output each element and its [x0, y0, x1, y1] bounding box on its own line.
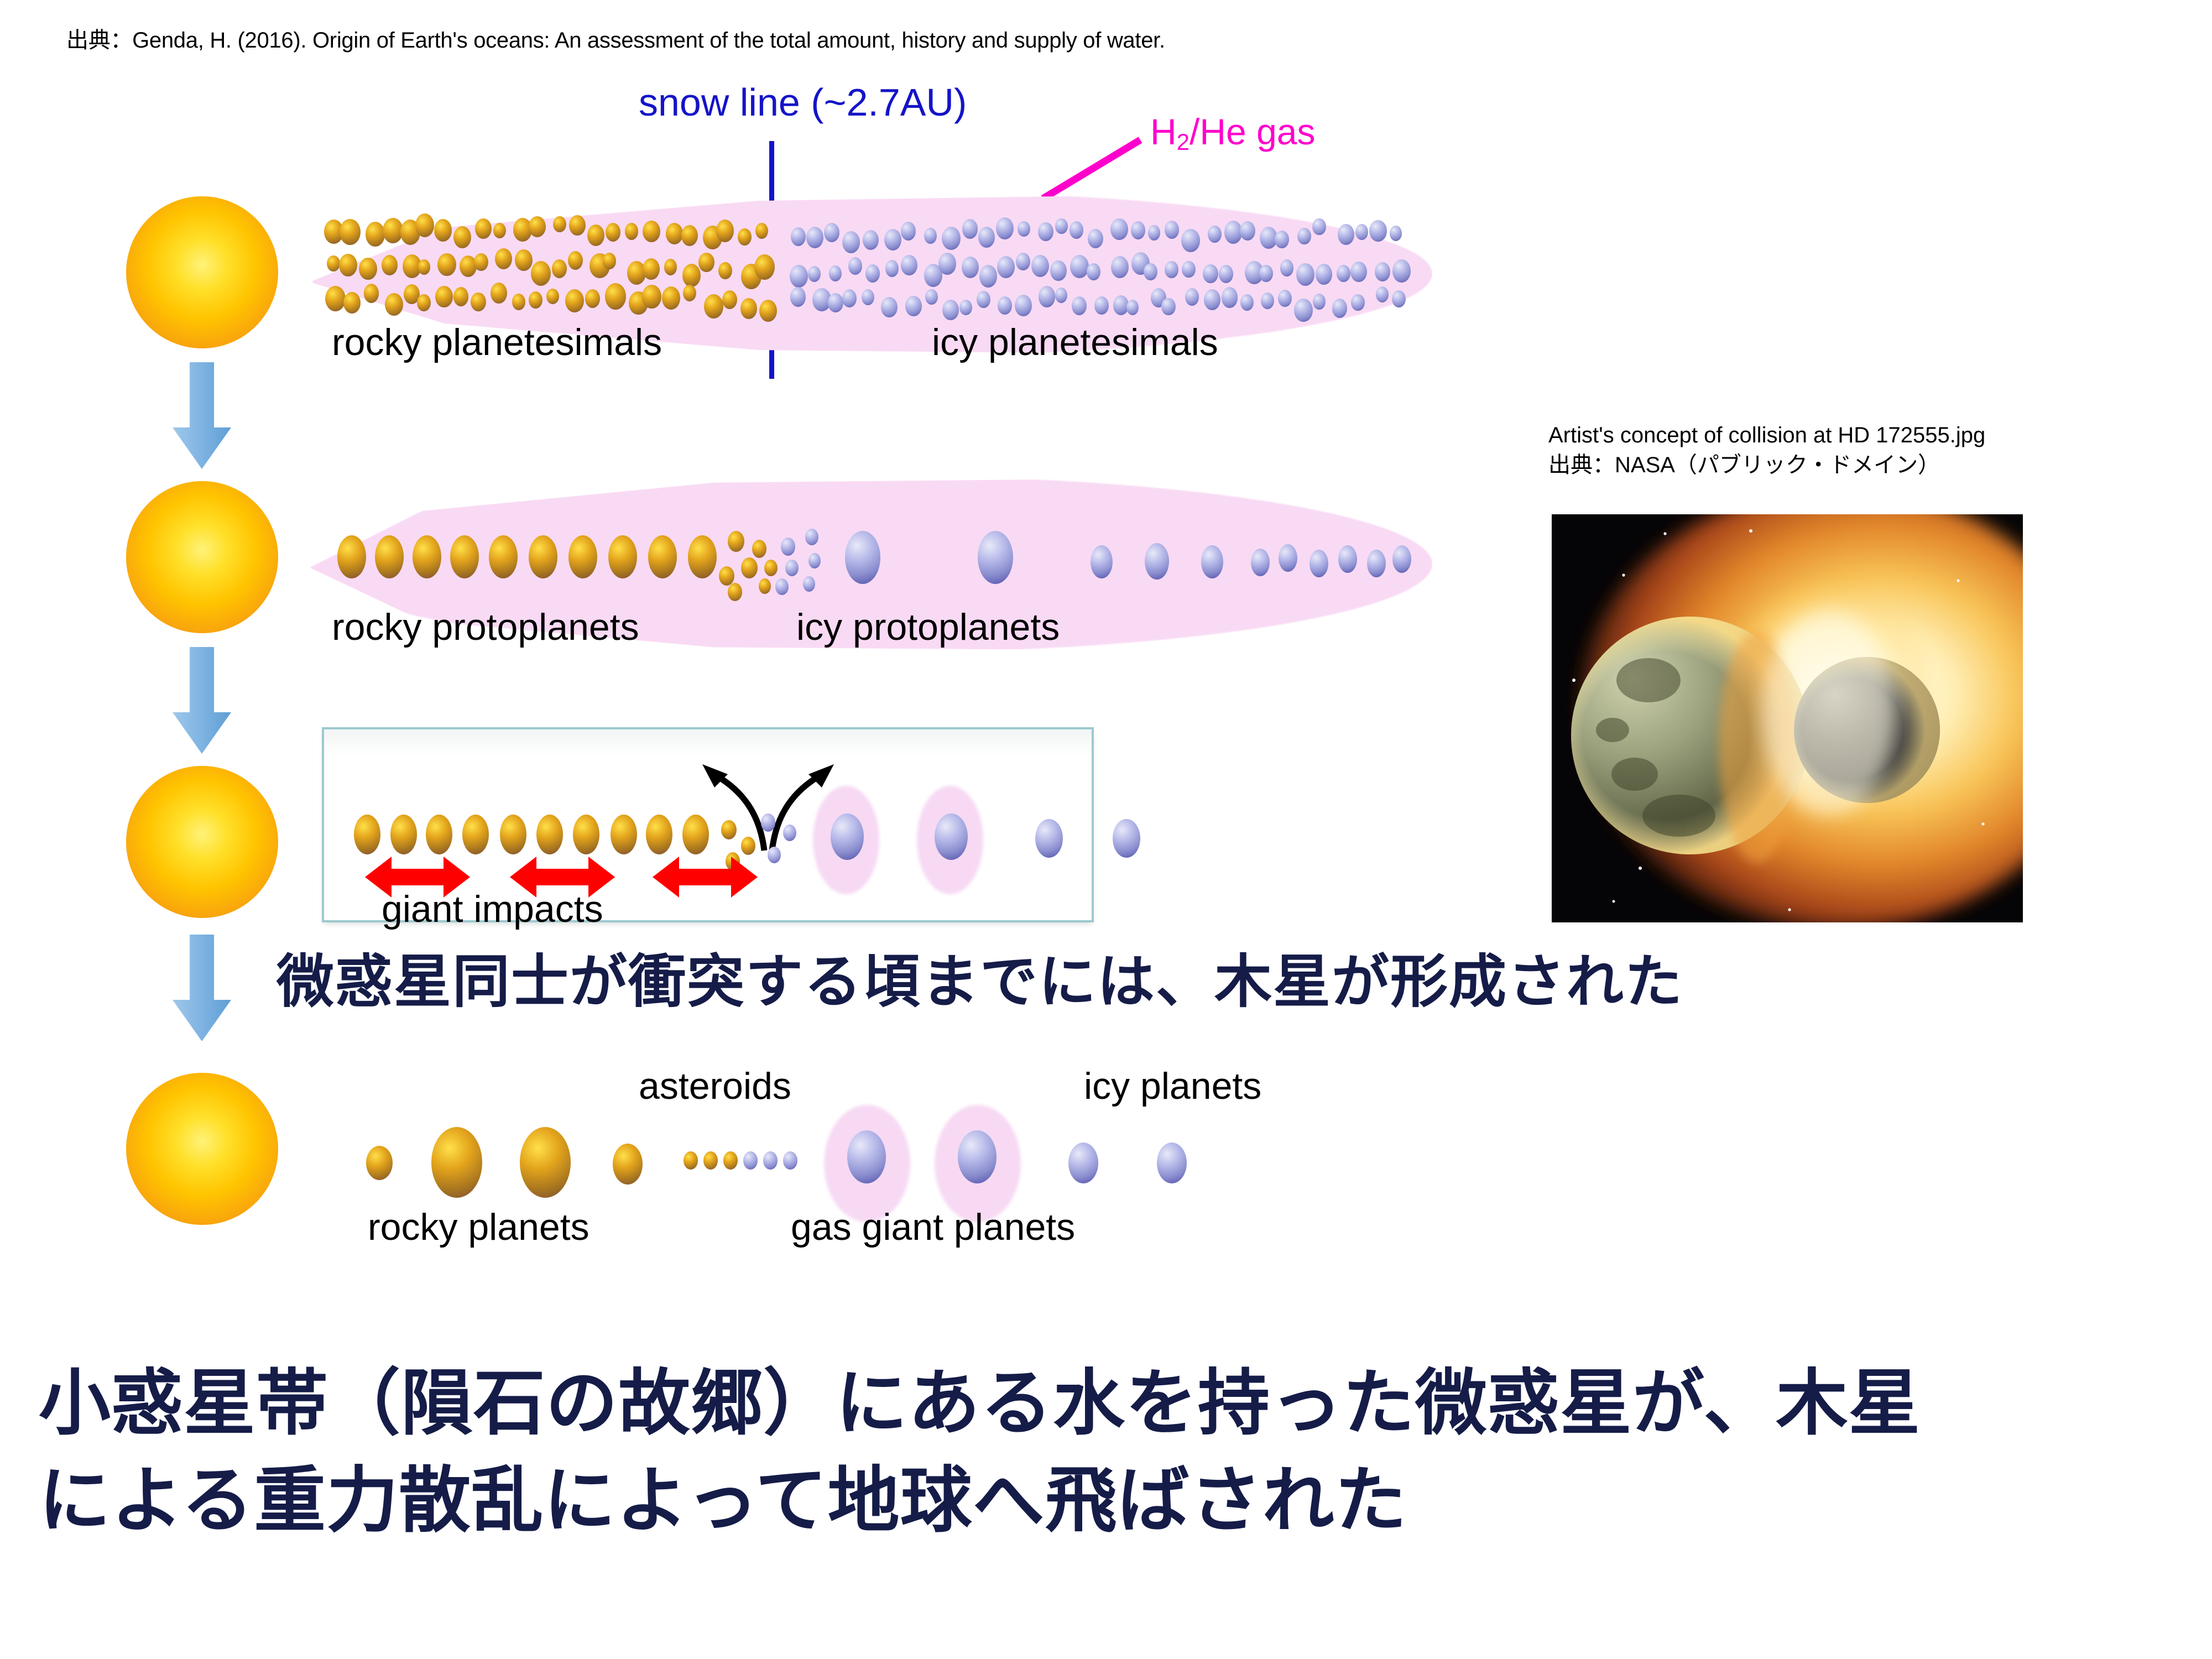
- rocky-body: [375, 535, 404, 578]
- icy-body: [1310, 550, 1328, 577]
- icy-body: [1392, 259, 1411, 282]
- icy-body: [1376, 286, 1389, 302]
- rocky-body: [354, 815, 380, 854]
- icy-body: [1088, 229, 1103, 248]
- icy-body: [1203, 264, 1218, 283]
- rocky-body: [682, 815, 709, 854]
- statement-bottom: 小惑星帯（隕石の故郷）にある水を持った微惑星が、木星 による重力散乱によって地球…: [39, 1355, 1921, 1549]
- icy-body: [1278, 290, 1292, 307]
- icy-body: [1055, 218, 1067, 234]
- icy-body: [1275, 231, 1288, 248]
- sun-stage-1: [126, 196, 278, 348]
- rocky-body: [366, 1146, 393, 1180]
- icy-body: [1110, 218, 1128, 240]
- rocky-body: [698, 253, 714, 272]
- rocky-body: [382, 255, 398, 275]
- rocky-body: [417, 294, 431, 311]
- icy-body: [1313, 294, 1326, 310]
- rocky-body: [716, 220, 734, 242]
- rocky-body: [643, 258, 660, 280]
- gas-label-rest: /He gas: [1190, 111, 1315, 152]
- icy-body: [781, 538, 795, 556]
- rocky-body: [337, 535, 366, 578]
- protoplanets-field: [332, 525, 1427, 608]
- icy-body: [865, 264, 880, 282]
- icy-body: [1038, 222, 1053, 241]
- rocky-body: [642, 285, 661, 309]
- statement-middle: 微惑星同士が衝突する頃までには、木星が形成された: [276, 935, 1683, 1018]
- rocky-body: [493, 223, 506, 239]
- icy-body: [1259, 265, 1273, 282]
- rocky-body: [728, 583, 742, 601]
- rocky-body: [385, 293, 403, 316]
- rocky-body: [495, 248, 512, 269]
- h2-he-gas-label: H2/He gas: [1150, 111, 1316, 155]
- rocky-body: [426, 815, 452, 854]
- icy-body: [1294, 299, 1312, 322]
- icy-body: [996, 217, 1014, 239]
- icy-body: [785, 560, 799, 576]
- icy-body: [842, 231, 860, 253]
- rocky-body: [568, 251, 583, 270]
- sun-stage-4: [126, 1073, 278, 1225]
- icy-body: [1316, 264, 1333, 285]
- icy-body: [1279, 544, 1297, 572]
- rocky-body: [418, 259, 430, 275]
- icy-body: [935, 813, 968, 860]
- icy-body: [962, 219, 978, 239]
- icy-body: [1031, 255, 1049, 277]
- icy-body: [1055, 288, 1067, 303]
- icy-body: [1350, 262, 1367, 282]
- rocky-body: [450, 535, 479, 578]
- rocky-body: [682, 264, 701, 287]
- rocky-body: [755, 223, 768, 239]
- icy-body: [1251, 549, 1270, 576]
- label-rocky-protoplanets: rocky protoplanets: [332, 606, 639, 649]
- icy-body: [791, 227, 806, 246]
- gas-label-main: H: [1150, 111, 1177, 152]
- icy-body: [901, 255, 917, 275]
- icy-body: [824, 223, 839, 242]
- icy-body: [1131, 221, 1146, 239]
- rocky-body: [648, 535, 677, 578]
- icy-body: [1261, 293, 1274, 309]
- label-icy-planets: icy planets: [1084, 1065, 1261, 1108]
- rocky-body: [643, 221, 660, 242]
- rocky-body: [343, 292, 361, 314]
- rocky-body: [606, 223, 620, 242]
- icy-body: [881, 297, 898, 317]
- rocky-body: [366, 222, 385, 247]
- label-icy-protoplanets: icy protoplanets: [796, 606, 1060, 649]
- icy-body: [842, 289, 857, 307]
- nasa-caption-line-1: Artist's concept of collision at HD 1725…: [1548, 420, 1985, 450]
- rocky-body: [512, 294, 525, 310]
- icy-body: [805, 529, 818, 545]
- icy-body: [1018, 221, 1030, 237]
- icy-body: [998, 296, 1012, 314]
- rocky-body: [546, 289, 559, 304]
- icy-body: [761, 813, 775, 832]
- icy-body: [942, 227, 961, 250]
- rocky-body: [536, 815, 563, 854]
- icy-body: [1126, 300, 1139, 315]
- rocky-body: [529, 535, 557, 578]
- icy-body: [847, 1130, 886, 1183]
- rocky-body: [431, 1127, 482, 1198]
- snow-line-label: snow line (~2.7AU): [639, 80, 967, 124]
- rocky-body: [569, 215, 586, 236]
- rocky-body: [664, 259, 677, 275]
- icy-body: [1070, 255, 1089, 278]
- rocky-body: [340, 219, 361, 245]
- rocky-body: [515, 249, 533, 271]
- planetary-collision-image: [1552, 514, 2023, 922]
- icy-body: [1240, 294, 1254, 311]
- rocky-body: [489, 535, 518, 578]
- rocky-body: [364, 284, 379, 302]
- rocky-body: [531, 261, 551, 286]
- stage-arrow-3-icon: [171, 935, 232, 1042]
- icy-body: [831, 813, 864, 860]
- icy-body: [1201, 545, 1223, 578]
- gas-leader-line-icon: [1040, 135, 1145, 202]
- icy-body: [1165, 221, 1179, 239]
- rocky-body: [462, 815, 489, 854]
- rocky-body: [529, 291, 542, 309]
- sun-stage-2: [126, 481, 278, 633]
- icy-body: [1144, 263, 1157, 280]
- rocky-body: [573, 815, 599, 854]
- gas-label-sub: 2: [1177, 129, 1190, 155]
- icy-body: [862, 289, 874, 305]
- rocky-body: [415, 213, 434, 237]
- stage-arrow-1-icon: [171, 362, 232, 470]
- rocky-body: [327, 255, 340, 272]
- icy-body: [1337, 265, 1350, 282]
- icy-body: [901, 222, 916, 241]
- icy-body: [1375, 262, 1390, 281]
- rocky-body: [741, 557, 758, 578]
- icy-body: [1072, 296, 1087, 315]
- rocky-body: [703, 1151, 718, 1170]
- icy-body: [1145, 543, 1169, 580]
- icy-body: [938, 253, 956, 274]
- statement-bottom-line-1: 小惑星帯（隕石の故郷）にある水を持った微惑星が、木星: [39, 1355, 1921, 1452]
- icy-body: [1332, 299, 1348, 318]
- icy-body: [1392, 290, 1406, 308]
- icy-body: [863, 230, 879, 250]
- icy-body: [1157, 1142, 1187, 1183]
- icy-body: [1369, 220, 1386, 242]
- icy-body: [905, 296, 922, 316]
- icy-body: [1070, 221, 1084, 239]
- icy-body: [962, 257, 979, 278]
- rocky-body: [719, 566, 734, 586]
- rocky-body: [552, 259, 567, 278]
- rocky-body: [390, 815, 417, 854]
- rocky-body: [613, 1144, 643, 1185]
- rocky-body: [688, 535, 717, 578]
- icy-body: [1161, 298, 1175, 316]
- icy-body: [1087, 263, 1100, 280]
- icy-body: [1392, 545, 1411, 573]
- icy-body: [1355, 224, 1369, 240]
- stage-arrow-2-icon: [171, 647, 232, 755]
- rocky-body: [435, 286, 453, 308]
- rocky-body: [721, 820, 737, 839]
- icy-body: [845, 531, 880, 584]
- icy-body: [1148, 225, 1160, 241]
- icy-body: [783, 825, 796, 841]
- icy-body: [829, 265, 842, 281]
- rocky-body: [681, 225, 698, 246]
- icy-body: [1219, 265, 1233, 283]
- icy-body: [1312, 218, 1326, 236]
- icy-body: [885, 260, 899, 277]
- icy-body: [763, 1151, 778, 1170]
- icy-body: [790, 287, 806, 307]
- icy-body: [783, 1151, 797, 1170]
- icy-body: [925, 289, 938, 305]
- rocky-body: [434, 219, 452, 241]
- icy-body: [828, 293, 843, 312]
- icy-body: [1181, 229, 1199, 252]
- icy-body: [1280, 259, 1293, 276]
- icy-body: [924, 228, 937, 244]
- rocky-body: [587, 225, 604, 246]
- icy-body: [808, 266, 821, 282]
- rocky-body: [764, 560, 778, 576]
- icy-body: [884, 229, 901, 251]
- rocky-body: [608, 535, 637, 578]
- icy-body: [1068, 1142, 1098, 1183]
- rocky-body: [474, 253, 488, 271]
- icy-body: [1208, 226, 1222, 243]
- icy-body: [1222, 287, 1238, 307]
- rocky-body: [359, 258, 377, 280]
- rocky-body: [662, 286, 681, 310]
- icy-body: [978, 227, 995, 248]
- icy-body: [803, 576, 815, 592]
- icy-body: [979, 265, 998, 288]
- rocky-body: [520, 1127, 571, 1198]
- rocky-body: [471, 293, 486, 311]
- rocky-body: [553, 216, 566, 232]
- icy-body: [1182, 261, 1196, 278]
- label-giant-impacts: giant impacts: [382, 888, 603, 931]
- icy-body: [1039, 286, 1055, 307]
- rocky-body: [529, 216, 546, 238]
- label-rocky-planetesimals: rocky planetesimals: [332, 321, 662, 364]
- icy-body: [1015, 295, 1032, 316]
- icy-body: [743, 1151, 758, 1170]
- icy-body: [1367, 550, 1386, 577]
- rocky-body: [491, 283, 507, 304]
- rocky-body: [611, 815, 637, 854]
- rocky-body: [704, 294, 723, 318]
- rocky-body: [759, 578, 771, 594]
- icy-body: [808, 553, 821, 568]
- icy-body: [1185, 288, 1199, 306]
- label-gas-giant-planets: gas giant planets: [791, 1206, 1075, 1249]
- nasa-image-caption: Artist's concept of collision at HD 1725…: [1548, 420, 1985, 480]
- icy-body: [1296, 263, 1314, 286]
- giant-impact-double-arrow-icon: [653, 854, 758, 900]
- rocky-body: [339, 254, 357, 276]
- rocky-body: [437, 253, 456, 276]
- rocky-body: [475, 218, 492, 239]
- rocky-body: [752, 540, 766, 558]
- rocky-body: [684, 1151, 698, 1170]
- icy-body: [1240, 221, 1255, 241]
- source-citation: 出典：Genda, H. (2016). Origin of Earth's o…: [66, 22, 1165, 54]
- icy-body: [1338, 224, 1354, 245]
- rocky-body: [605, 283, 626, 309]
- icy-body: [790, 265, 808, 288]
- icy-body: [1111, 256, 1129, 279]
- icy-body: [1165, 261, 1178, 278]
- icy-body: [1204, 289, 1220, 310]
- nasa-caption-line-2: 出典：NASA（パブリック・ドメイン）: [1548, 450, 1985, 480]
- rocky-body: [413, 535, 441, 578]
- icy-body: [775, 578, 789, 595]
- icy-body: [978, 531, 1013, 584]
- rocky-body: [718, 262, 732, 279]
- statement-bottom-line-2: による重力散乱によって地球へ飛ばされた: [39, 1452, 1921, 1550]
- rocky-body: [500, 815, 526, 854]
- label-asteroids: asteroids: [639, 1065, 791, 1108]
- icy-body: [1091, 545, 1113, 578]
- rocky-body: [325, 286, 346, 312]
- rocky-body: [740, 298, 757, 319]
- rocky-body: [738, 228, 752, 246]
- icy-body: [1297, 228, 1311, 244]
- rocky-body: [585, 289, 600, 308]
- rocky-body: [625, 223, 638, 239]
- icy-body: [1035, 819, 1063, 858]
- icy-body: [958, 1130, 997, 1183]
- icy-body: [1113, 819, 1140, 858]
- rocky-body: [741, 837, 755, 855]
- icy-body: [1338, 545, 1357, 573]
- icy-body: [942, 300, 959, 320]
- rocky-body: [453, 287, 468, 306]
- rocky-body: [722, 290, 737, 309]
- icy-body: [1390, 226, 1402, 241]
- icy-body: [1050, 260, 1067, 281]
- rocky-body: [568, 535, 597, 578]
- icy-body: [977, 291, 990, 308]
- sun-stage-3: [126, 766, 278, 918]
- icy-body: [806, 227, 823, 248]
- icy-body: [997, 256, 1015, 278]
- rocky-body: [683, 285, 696, 301]
- rocky-body: [453, 226, 471, 248]
- rocky-body: [666, 223, 683, 244]
- icy-body: [1094, 296, 1109, 314]
- rocky-body: [565, 289, 584, 313]
- icy-body: [848, 257, 862, 274]
- icy-body: [1016, 253, 1030, 270]
- rocky-body: [728, 531, 744, 552]
- icy-body: [1351, 294, 1365, 311]
- icy-body: [959, 300, 972, 315]
- rocky-body: [603, 253, 615, 269]
- label-icy-planetesimals: icy planetesimals: [932, 321, 1218, 364]
- label-rocky-planets: rocky planets: [368, 1206, 589, 1249]
- rocky-body: [723, 1151, 738, 1170]
- rocky-body: [646, 815, 672, 854]
